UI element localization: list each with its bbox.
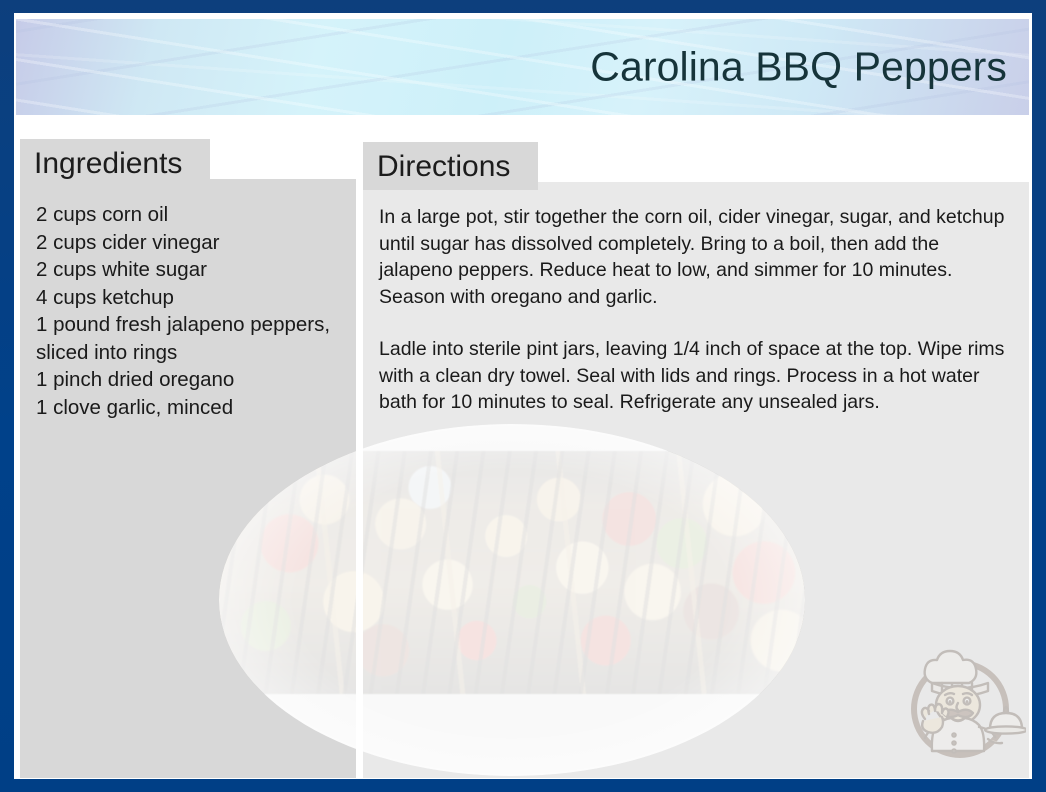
list-item: 2 cups corn oil [36,201,344,229]
ingredients-panel: 2 cups corn oil 2 cups cider vinegar 2 c… [20,179,356,778]
list-item: 1 pinch dried oregano [36,366,344,394]
list-item: 2 cups cider vinegar [36,229,344,257]
page-title: Carolina BBQ Peppers [590,44,1007,91]
list-item: 2 cups white sugar [36,256,344,284]
header-banner: Carolina BBQ Peppers [16,19,1029,115]
ingredients-heading: Ingredients [20,139,210,187]
list-item: 4 cups ketchup [36,284,344,312]
slide-canvas: Carolina BBQ Peppers 2 cups corn oil 2 c… [14,13,1032,779]
directions-body: In a large pot, stir together the corn o… [379,204,1017,416]
directions-paragraph: Ladle into sterile pint jars, leaving 1/… [379,336,1017,416]
chef-mascot-logo [896,639,1026,765]
column-divider [356,179,363,778]
list-item: 1 pound fresh jalapeno peppers, sliced i… [36,311,344,366]
directions-paragraph: In a large pot, stir together the corn o… [379,204,1017,310]
directions-heading: Directions [363,142,538,190]
recipe-slide: Carolina BBQ Peppers 2 cups corn oil 2 c… [0,0,1046,792]
ingredients-list: 2 cups corn oil 2 cups cider vinegar 2 c… [36,201,344,421]
chef-icon [896,639,1026,765]
list-item: 1 clove garlic, minced [36,394,344,422]
